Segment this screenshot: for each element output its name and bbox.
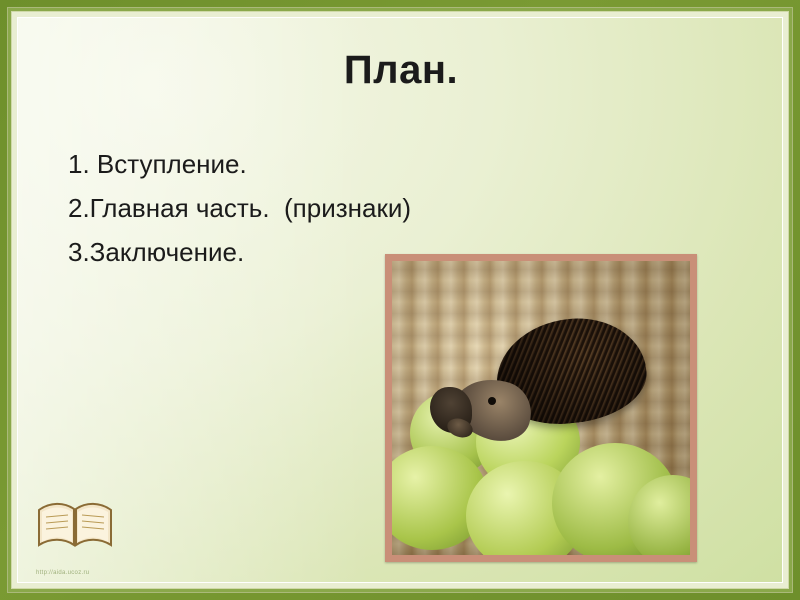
slide: План. 1. Вступление. 2.Главная часть. (п… [0,0,800,600]
open-book-icon [36,498,114,552]
page-title: План. [18,48,783,93]
slide-canvas: План. 1. Вступление. 2.Главная часть. (п… [17,17,783,583]
hedgehog-photo [385,254,697,562]
list-item: 1. Вступление. [68,151,728,177]
hedgehog-eye [488,397,496,405]
photo-inner [392,261,690,555]
credit-text: http://aida.ucoz.ru [36,570,89,576]
list-item: 2.Главная часть. (признаки) [68,195,728,221]
